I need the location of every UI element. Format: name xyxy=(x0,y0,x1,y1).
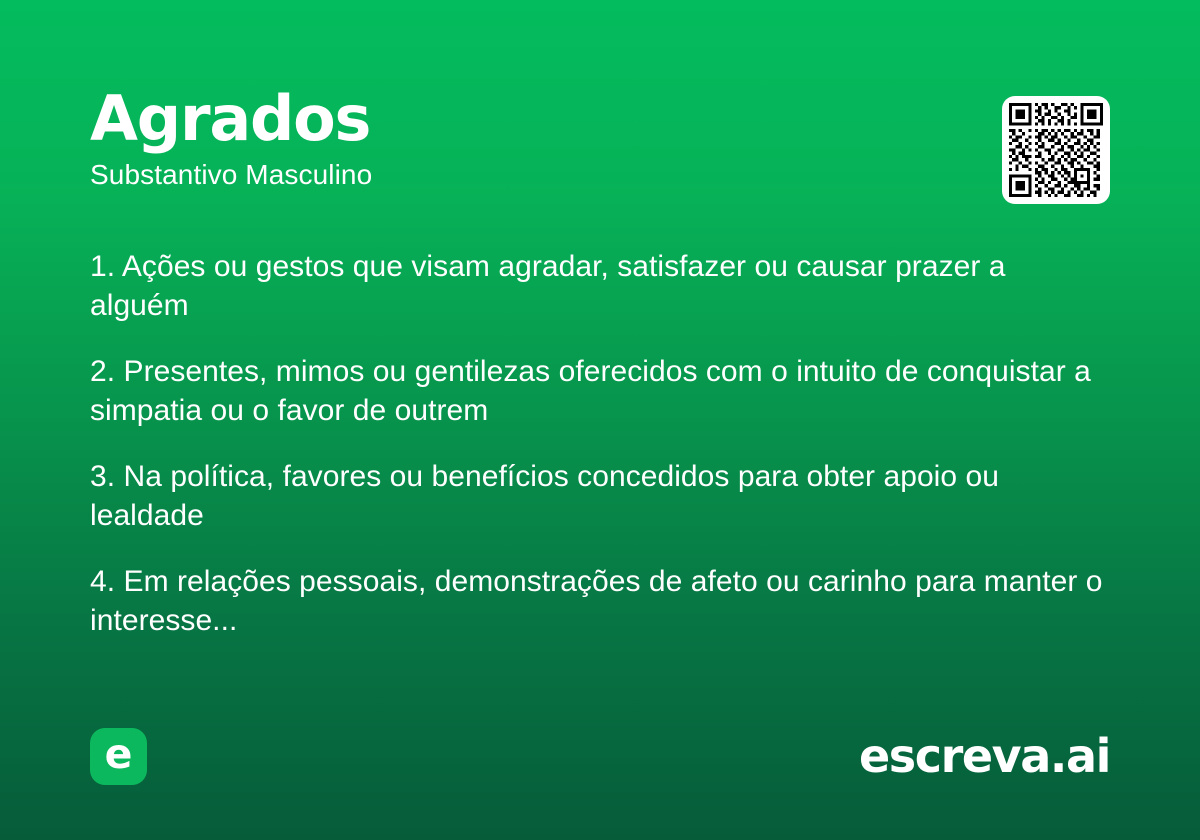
word-class-label: Substantivo Masculino xyxy=(90,159,1110,190)
escreva-logo-icon: e xyxy=(90,728,147,785)
definition-item: 2. Presentes, mimos ou gentilezas oferec… xyxy=(90,352,1112,430)
definition-item: 3. Na política, favores ou benefícios co… xyxy=(90,457,1112,535)
definition-item: 4. Em relações pessoais, demonstrações d… xyxy=(90,562,1112,640)
definitions-list: 1. Ações ou gestos que visam agradar, sa… xyxy=(90,247,1112,640)
page-title: Agrados xyxy=(90,88,1110,150)
logo-letter: e xyxy=(105,734,133,775)
qr-code[interactable] xyxy=(1002,96,1110,204)
definition-item: 1. Ações ou gestos que visam agradar, sa… xyxy=(90,247,1112,325)
card-footer: e escreva.ai xyxy=(90,727,1110,785)
dictionary-card: Agrados Substantivo Masculino xyxy=(0,0,1200,840)
brand-wordmark: escreva.ai xyxy=(859,733,1110,779)
card-header: Agrados Substantivo Masculino xyxy=(90,88,1110,190)
